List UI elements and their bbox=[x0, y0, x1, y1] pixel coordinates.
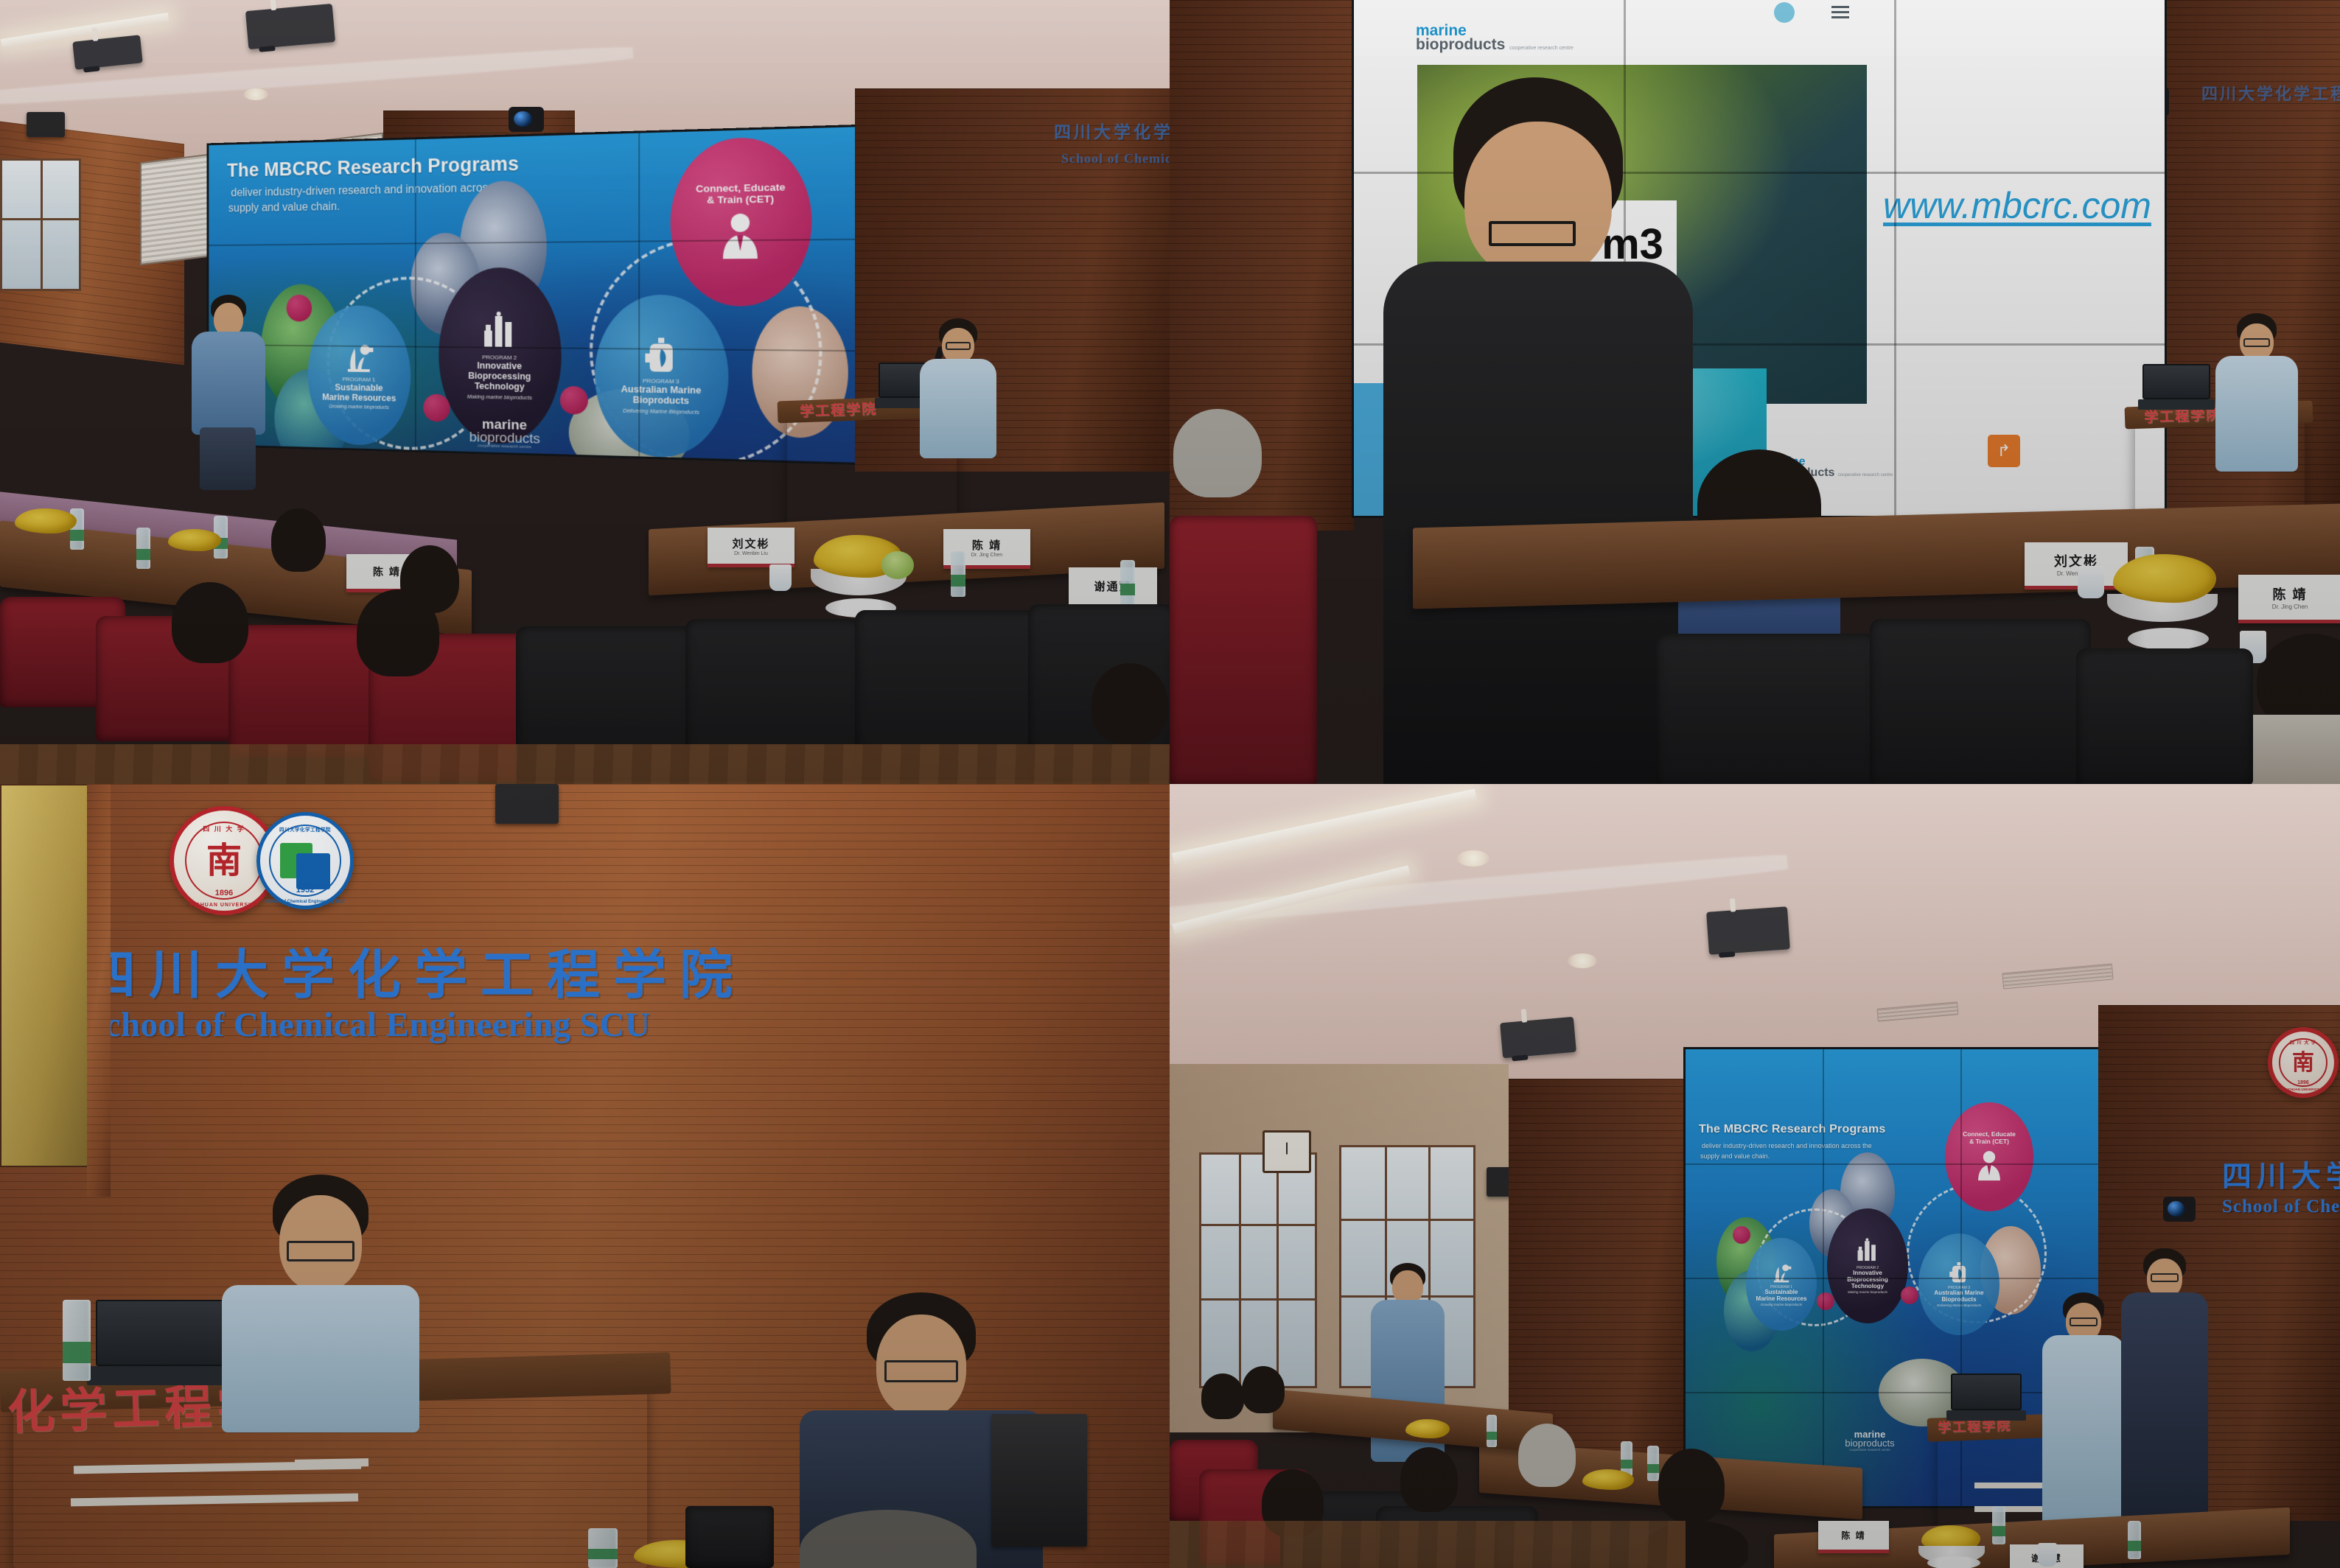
program1-name1: Sustainable bbox=[335, 382, 383, 393]
crest-sce-year: 1952 bbox=[296, 886, 314, 895]
podium-label: 学工程学院 bbox=[800, 398, 878, 421]
bioprocessing-plant-icon bbox=[1856, 1238, 1879, 1263]
seaweed-diver-icon bbox=[1771, 1262, 1792, 1283]
namecard-cn: 陈 靖 bbox=[373, 564, 401, 579]
wall-chinese-title: 四川大学化学工程学院 bbox=[83, 931, 746, 1009]
program1-number: PROGRAM 1 bbox=[1770, 1285, 1792, 1289]
podium-stripe bbox=[295, 1458, 369, 1468]
photo-collage: The MBCRC Research Programs deliver indu… bbox=[0, 0, 2340, 1568]
crest-scu-glyph: 南 bbox=[206, 831, 242, 883]
panel-top-left: The MBCRC Research Programs deliver indu… bbox=[0, 0, 1170, 784]
person-audience bbox=[398, 545, 461, 619]
program2-tagline: Making marine bioproducts bbox=[1848, 1290, 1887, 1294]
program1-name2: Marine Resources bbox=[322, 392, 396, 403]
namecard: 刘文彬 Dr. Wenbin Liu bbox=[2025, 542, 2128, 589]
program3-number: PROGRAM 3 bbox=[1948, 1286, 1970, 1290]
seaweed-diver-icon bbox=[343, 340, 374, 372]
water-bottle bbox=[1120, 560, 1135, 606]
logo-line3: cooperative research centre bbox=[1509, 46, 1574, 51]
program1-name2: Marine Resources bbox=[1756, 1296, 1807, 1303]
seat bbox=[2076, 648, 2253, 784]
person-presenter-icon bbox=[1975, 1149, 2003, 1183]
window bbox=[1199, 1152, 1317, 1388]
wall-speaker bbox=[27, 112, 65, 137]
bananas bbox=[15, 508, 77, 533]
program2-name1: Innovative bbox=[477, 360, 522, 371]
floor bbox=[0, 744, 1170, 784]
namecard-en: Dr. Jing Chen bbox=[2272, 603, 2308, 610]
projector bbox=[1706, 906, 1790, 955]
crest-scu-arc-bottom: SICHUAN UNIVERSITY bbox=[174, 903, 274, 908]
bananas bbox=[1582, 1469, 1634, 1490]
paper-cup bbox=[2078, 566, 2104, 598]
wall-clock bbox=[1262, 1130, 1311, 1173]
footer-logo-line3: cooperative research centre bbox=[1826, 1449, 1914, 1452]
logo-line2: bioproducts bbox=[1416, 36, 1505, 53]
wall-speaker bbox=[495, 784, 559, 824]
school-chemical-engineering-crest: 四川大学化学工程学院 1952 School of Chemical Engin… bbox=[256, 812, 354, 909]
sichuan-university-crest: 四 川 大 学 南 1896 SICHUAN UNIVERSITY bbox=[2268, 1027, 2339, 1098]
seat bbox=[1656, 634, 1877, 784]
bubble-icon-worker-2 bbox=[423, 394, 450, 422]
share-button-icon[interactable]: ↱ bbox=[1988, 435, 2020, 467]
person-standing-attendee bbox=[2120, 1248, 2209, 1543]
water-bottle bbox=[1487, 1415, 1497, 1447]
stool bbox=[685, 1506, 774, 1568]
bubble-icon-worker-2 bbox=[1817, 1292, 1834, 1310]
wall-english-title: School of Chemical Engineering SCU bbox=[2222, 1197, 2340, 1217]
floor-equipment bbox=[991, 1414, 1087, 1547]
downlight bbox=[1457, 850, 1489, 867]
bubble-icon-worker-3 bbox=[560, 386, 588, 415]
person-speaker-podium bbox=[214, 1175, 427, 1418]
marine-bioproducts-logo: marine bioproducts cooperative research … bbox=[1416, 24, 1574, 52]
namecard-cn: 刘文彬 bbox=[732, 536, 769, 551]
wall-english-title: School of Chemical Engineering SCU bbox=[85, 1005, 650, 1045]
program2-name3: Technology bbox=[475, 380, 525, 391]
floor bbox=[1170, 1521, 1686, 1568]
crest-scu-year: 1896 bbox=[2297, 1080, 2309, 1085]
person-presenter-icon bbox=[719, 211, 763, 262]
cet-line1: Connect, Educate bbox=[1963, 1130, 2016, 1138]
program3-number: PROGRAM 3 bbox=[643, 377, 680, 385]
panel-bottom-left: 四 川 大 学 南 1896 SICHUAN UNIVERSITY 四川大学化学… bbox=[0, 784, 1170, 1568]
person-standing-foreground bbox=[1383, 77, 1693, 784]
bubble-cet: Connect, Educate & Train (CET) bbox=[671, 136, 812, 306]
person-audience bbox=[1398, 1447, 1460, 1518]
window bbox=[0, 158, 81, 291]
namecard-cn: 陈 靖 bbox=[972, 537, 1002, 553]
bubble-program-1: PROGRAM 1 Sustainable Marine Resources G… bbox=[308, 305, 411, 446]
program3-name2: Bioproducts bbox=[1941, 1297, 1976, 1303]
panel-top-right: marine bioproducts cooperative research … bbox=[1170, 0, 2340, 784]
crest-scu-arc-bottom: SICHUAN UNIVERSITY bbox=[2272, 1088, 2334, 1091]
cet-line2: & Train (CET) bbox=[1969, 1138, 2009, 1145]
person-audience bbox=[269, 508, 328, 578]
panel-bottom-right: The MBCRC Research Programs deliver indu… bbox=[1170, 784, 2340, 1568]
bottle-leaf-icon bbox=[643, 337, 679, 374]
slide-subtitle-line2: supply and value chain. bbox=[228, 200, 340, 216]
namecard: 陈 靖 bbox=[1818, 1521, 1889, 1553]
program3-tagline: Delivering Marine Bioproducts bbox=[623, 407, 699, 416]
crest-scu-glyph: 南 bbox=[2292, 1044, 2314, 1077]
grapes bbox=[881, 551, 914, 579]
bananas bbox=[2113, 554, 2216, 603]
bananas bbox=[1405, 1419, 1450, 1438]
crest-sce-arc-bottom: School of Chemical Engineering SCU bbox=[260, 900, 350, 904]
bubble-icon-worker-1 bbox=[1733, 1226, 1750, 1244]
water-bottle bbox=[136, 528, 150, 569]
bubble-program-1: PROGRAM 1 Sustainable Marine Resources G… bbox=[1746, 1238, 1817, 1331]
person-audience-foreground bbox=[796, 1510, 980, 1568]
podium-laptop bbox=[2142, 364, 2210, 410]
namecard: 谢通慧 bbox=[1069, 567, 1157, 609]
slide-footer-logo: marine bioproducts cooperative research … bbox=[1826, 1430, 1914, 1452]
wall-english-title-small: School of Chemical Engineering SCU bbox=[1061, 151, 1170, 167]
program2-number: PROGRAM 2 bbox=[482, 354, 517, 360]
camera-icon bbox=[2163, 1197, 2196, 1222]
slide-subtitle-line2: supply and value chain. bbox=[1700, 1152, 1770, 1161]
seat bbox=[1870, 619, 2091, 784]
bubble-icon-worker-3 bbox=[1901, 1287, 1918, 1304]
person-audience bbox=[1656, 1449, 1727, 1530]
plate bbox=[2128, 628, 2209, 650]
bubble-program-3: PROGRAM 3 Australian Marine Bioproducts … bbox=[1918, 1233, 2000, 1335]
program1-number: PROGRAM 1 bbox=[343, 376, 376, 382]
program1-tagline: Growing marine bioproducts bbox=[1761, 1303, 1802, 1306]
bioprocessing-plant-icon bbox=[481, 311, 517, 349]
bananas bbox=[168, 529, 221, 551]
partners-badge-icon[interactable] bbox=[1774, 2, 1795, 23]
program2-name3: Technology bbox=[1851, 1284, 1884, 1290]
program2-tagline: Making marine bioproducts bbox=[467, 393, 532, 401]
podium-laptop bbox=[1951, 1373, 2022, 1421]
bubble-program-2: PROGRAM 2 Innovative Bioprocessing Techn… bbox=[1827, 1208, 1908, 1323]
person-audience bbox=[1240, 1366, 1287, 1419]
person-audience bbox=[1089, 663, 1170, 752]
program3-name2: Bioproducts bbox=[633, 395, 689, 407]
crest-scu-year: 1896 bbox=[215, 889, 233, 897]
program1-tagline: Growing marine bioproducts bbox=[329, 404, 388, 410]
door[interactable] bbox=[0, 784, 88, 1167]
namecard-en: Dr. Wenbin Liu bbox=[734, 551, 768, 556]
namecard-en: Dr. Jing Chen bbox=[971, 553, 1002, 558]
bottle-leaf-icon bbox=[1949, 1261, 1969, 1284]
water-bottle bbox=[63, 1300, 91, 1381]
person-audience bbox=[170, 582, 251, 671]
door-frame bbox=[87, 784, 111, 1197]
person-audience-grey-hair bbox=[1516, 1424, 1578, 1494]
hamburger-menu-icon[interactable] bbox=[1831, 6, 1849, 18]
seat bbox=[1170, 516, 1317, 784]
crest-sce-arc-top: 四川大学化学工程学院 bbox=[260, 825, 350, 833]
downlight bbox=[1568, 953, 1597, 968]
namecard: 陈 靖 Dr. Jing Chen bbox=[2238, 575, 2340, 623]
camera-icon bbox=[509, 107, 544, 132]
water-bottle bbox=[951, 551, 965, 597]
person-speaker-podium bbox=[918, 318, 999, 458]
person-speaker-podium bbox=[2212, 313, 2301, 472]
namecard: 刘文彬 Dr. Wenbin Liu bbox=[708, 528, 794, 567]
downlight bbox=[243, 88, 268, 100]
projector bbox=[245, 4, 335, 49]
program3-tagline: Delivering Marine Bioproducts bbox=[1937, 1303, 1981, 1307]
plate bbox=[1927, 1556, 1980, 1568]
person-presenter-standing bbox=[188, 295, 269, 486]
program2-name2: Bioprocessing bbox=[468, 370, 531, 381]
water-bottle bbox=[1992, 1506, 2005, 1544]
paper-cup bbox=[769, 564, 792, 591]
paper-cup bbox=[2038, 1543, 2057, 1567]
wall-chinese-title: 四川大学化学工程学院 bbox=[2222, 1152, 2340, 1195]
website-url: www.mbcrc.com bbox=[1883, 184, 2151, 227]
namecard-cn: 陈 靖 bbox=[1841, 1529, 1865, 1541]
namecard-cn: 陈 靖 bbox=[2272, 584, 2307, 603]
person-speaker-podium bbox=[2039, 1292, 2128, 1536]
water-bottle bbox=[2128, 1521, 2141, 1559]
slide-subtitle-line1: deliver industry-driven research and inn… bbox=[1702, 1142, 1872, 1150]
bubble-cet: Connect, Educate & Train (CET) bbox=[1945, 1102, 2033, 1211]
wall-chinese-title-small: 四川大学化学工程学院 bbox=[2201, 81, 2340, 105]
footer-logo-line3: cooperative research centre bbox=[1838, 473, 1893, 477]
wall-chinese-title-small: 四川大学化学工程学院 bbox=[1054, 118, 1170, 143]
footer-logo-line2: bioproducts bbox=[1826, 1439, 1914, 1448]
cet-line2: & Train (CET) bbox=[707, 193, 774, 206]
projector bbox=[1500, 1017, 1576, 1059]
slide-footer-logo: marine bioproducts cooperative research … bbox=[447, 418, 563, 452]
water-bottle bbox=[588, 1528, 618, 1568]
program2-number: PROGRAM 2 bbox=[1857, 1266, 1879, 1270]
bubble-icon-worker-1 bbox=[287, 295, 312, 322]
slide-title: The MBCRC Research Programs bbox=[1699, 1123, 1885, 1136]
